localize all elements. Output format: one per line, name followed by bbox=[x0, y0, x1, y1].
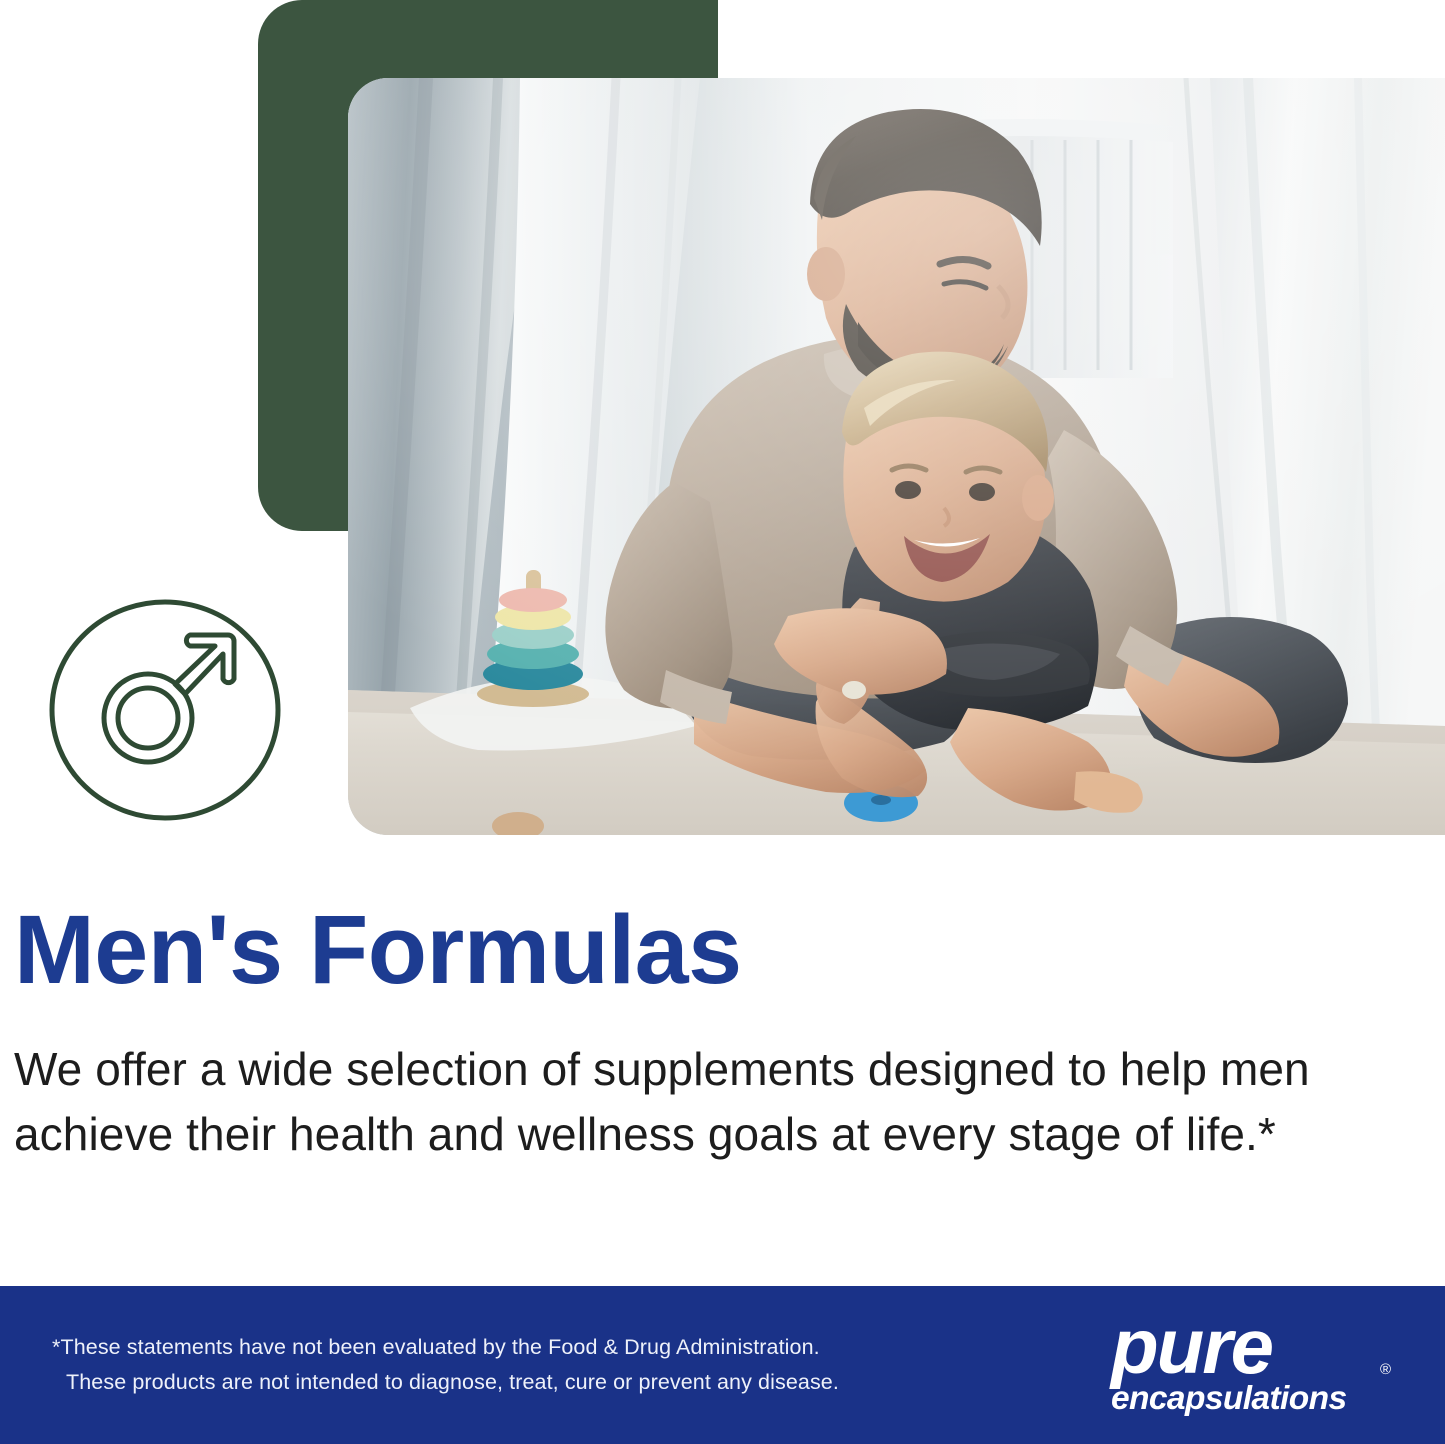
mars-arrow bbox=[175, 635, 234, 694]
text-block: Men's Formulas We offer a wide selection… bbox=[14, 900, 1394, 1168]
brand-subwordmark-text: encapsulations bbox=[1111, 1380, 1346, 1417]
page-subtitle: We offer a wide selection of supplements… bbox=[14, 1037, 1359, 1168]
hero-photo-illustration bbox=[348, 78, 1445, 835]
brand-subwordmark: encapsulations® bbox=[1111, 1382, 1389, 1416]
brand-wordmark: pure bbox=[1111, 1313, 1389, 1380]
male-gender-symbol-icon bbox=[44, 596, 286, 825]
footer-bar: *These statements have not been evaluate… bbox=[0, 1286, 1445, 1444]
banner-page: Men's Formulas We offer a wide selection… bbox=[0, 0, 1445, 1444]
footer-disclaimer: *These statements have not been evaluate… bbox=[52, 1330, 839, 1400]
pure-encapsulations-logo[interactable]: pure encapsulations® bbox=[1111, 1313, 1389, 1417]
registered-trademark-icon: ® bbox=[1380, 1362, 1391, 1377]
page-title: Men's Formulas bbox=[14, 900, 1394, 1001]
male-symbol-svg bbox=[44, 596, 286, 825]
badge-outer-circle bbox=[52, 602, 278, 818]
disclaimer-line-1: *These statements have not been evaluate… bbox=[52, 1335, 820, 1359]
hero-photo bbox=[348, 78, 1445, 835]
disclaimer-line-2: These products are not intended to diagn… bbox=[52, 1365, 839, 1400]
